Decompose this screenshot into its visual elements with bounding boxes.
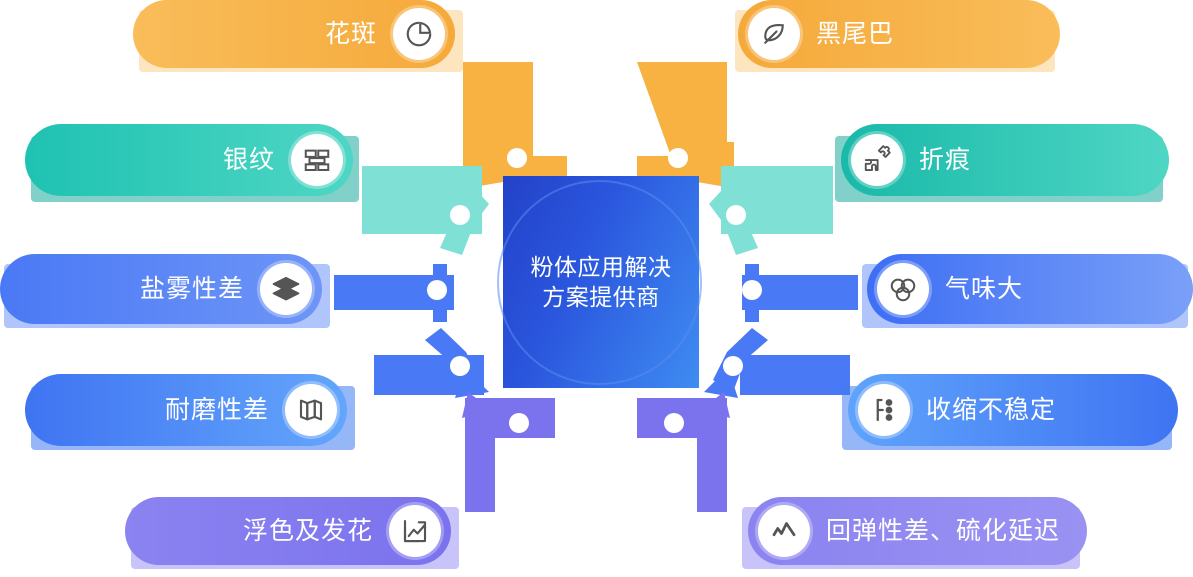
node-yin-wen[interactable]: 银纹 <box>25 124 360 208</box>
node-hei-wei-ba-label: 黑尾巴 <box>816 22 894 47</box>
connector-yin-wen <box>362 166 489 255</box>
brick-wall-icon <box>291 134 343 186</box>
node-nai-mo-xing-cha-label: 耐磨性差 <box>165 398 269 423</box>
node-shou-suo-bu-wen-ding-label: 收缩不稳定 <box>926 398 1056 423</box>
connector-hua-ban <box>463 62 567 188</box>
node-yan-wu-xing-cha-label: 盐雾性差 <box>140 277 244 302</box>
recycle-circles-icon <box>877 263 929 315</box>
connector-yan-wu-xing-cha <box>334 264 454 322</box>
puzzle-piece-icon <box>851 134 903 186</box>
leaf-icon <box>748 8 800 60</box>
center-node: 粉体应用解决 方案提供商 <box>503 176 699 388</box>
pie-chart-icon <box>393 8 445 60</box>
node-zhe-hen-pill[interactable]: 折痕 <box>841 124 1169 196</box>
node-fu-se-ji-fa-hua-label: 浮色及发花 <box>243 519 373 544</box>
connector-hei-wei-ba <box>637 62 734 188</box>
connector-qi-wei-da <box>742 264 858 322</box>
node-hui-tan-xing-cha-label: 回弹性差、硫化延迟 <box>826 519 1060 544</box>
node-shou-suo-bu-wen-ding-pill[interactable]: 收缩不稳定 <box>848 374 1178 446</box>
connector-nai-mo-xing-cha <box>374 328 489 398</box>
node-hua-ban-pill[interactable]: 花斑 <box>133 0 455 68</box>
open-book-icon <box>285 384 337 436</box>
activity-line-icon <box>758 505 810 557</box>
node-hei-wei-ba[interactable]: 黑尾巴 <box>735 0 1060 78</box>
node-fu-se-ji-fa-hua-pill[interactable]: 浮色及发花 <box>125 497 451 565</box>
node-qi-wei-da-pill[interactable]: 气味大 <box>867 254 1193 324</box>
node-fu-se-ji-fa-hua[interactable]: 浮色及发花 <box>125 497 460 577</box>
infographic-canvas: 粉体应用解决 方案提供商 花斑 黑尾巴 <box>0 0 1193 577</box>
node-hei-wei-ba-pill[interactable]: 黑尾巴 <box>738 0 1060 68</box>
connector-fu-se-ji-fa-hua <box>462 392 555 512</box>
node-hui-tan-xing-cha-pill[interactable]: 回弹性差、硫化延迟 <box>748 497 1087 565</box>
node-nai-mo-xing-cha-pill[interactable]: 耐磨性差 <box>25 374 347 446</box>
node-yin-wen-label: 银纹 <box>223 148 275 173</box>
center-title: 粉体应用解决 方案提供商 <box>531 252 672 313</box>
connector-hui-tan-xing-cha <box>637 392 730 512</box>
node-hua-ban-label: 花斑 <box>325 22 377 47</box>
connector-shou-suo-bu-wen-ding <box>704 328 850 398</box>
node-zhe-hen-label: 折痕 <box>919 148 971 173</box>
trending-up-box-icon <box>389 505 441 557</box>
node-yan-wu-xing-cha[interactable]: 盐雾性差 <box>0 254 330 334</box>
connector-zhe-hen <box>709 166 833 255</box>
node-nai-mo-xing-cha[interactable]: 耐磨性差 <box>25 374 355 458</box>
node-hua-ban[interactable]: 花斑 <box>133 0 463 78</box>
node-yan-wu-xing-cha-pill[interactable]: 盐雾性差 <box>0 254 322 324</box>
node-shou-suo-bu-wen-ding[interactable]: 收缩不稳定 <box>842 374 1182 458</box>
node-zhe-hen[interactable]: 折痕 <box>835 124 1170 208</box>
node-hui-tan-xing-cha[interactable]: 回弹性差、硫化延迟 <box>742 497 1087 577</box>
node-yin-wen-pill[interactable]: 银纹 <box>25 124 353 196</box>
node-qi-wei-da[interactable]: 气味大 <box>862 254 1193 334</box>
sitemap-icon <box>858 384 910 436</box>
layers-icon <box>260 263 312 315</box>
node-qi-wei-da-label: 气味大 <box>945 277 1023 302</box>
